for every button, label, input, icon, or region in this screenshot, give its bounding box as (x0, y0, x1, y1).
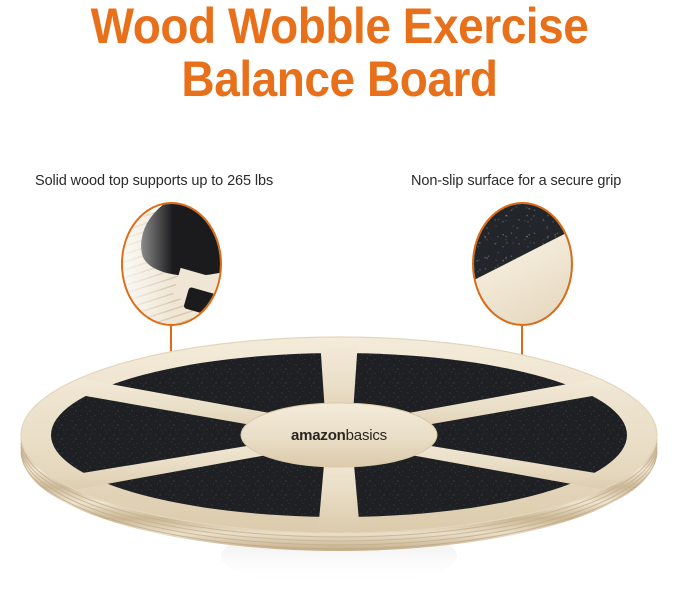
product-infographic: Wood Wobble Exercise Balance Board Solid… (0, 0, 679, 589)
title-line-2: Balance Board (27, 55, 652, 104)
callout-bubble-plywood-edge (121, 202, 222, 326)
callout-caption-left: Solid wood top supports up to 265 lbs (35, 173, 273, 189)
title-line-1: Wood Wobble Exercise (27, 2, 652, 51)
balance-board-image: amazonbasics (0, 320, 679, 589)
callout-caption-right: Non-slip surface for a secure grip (411, 173, 621, 189)
callout-bubble-grip-surface (472, 202, 573, 326)
balance-board-svg: amazonbasics (0, 320, 679, 589)
page-title: Wood Wobble Exercise Balance Board (0, 2, 679, 104)
bubble-highlight (121, 204, 173, 326)
brand-logo: amazonbasics (291, 427, 387, 444)
